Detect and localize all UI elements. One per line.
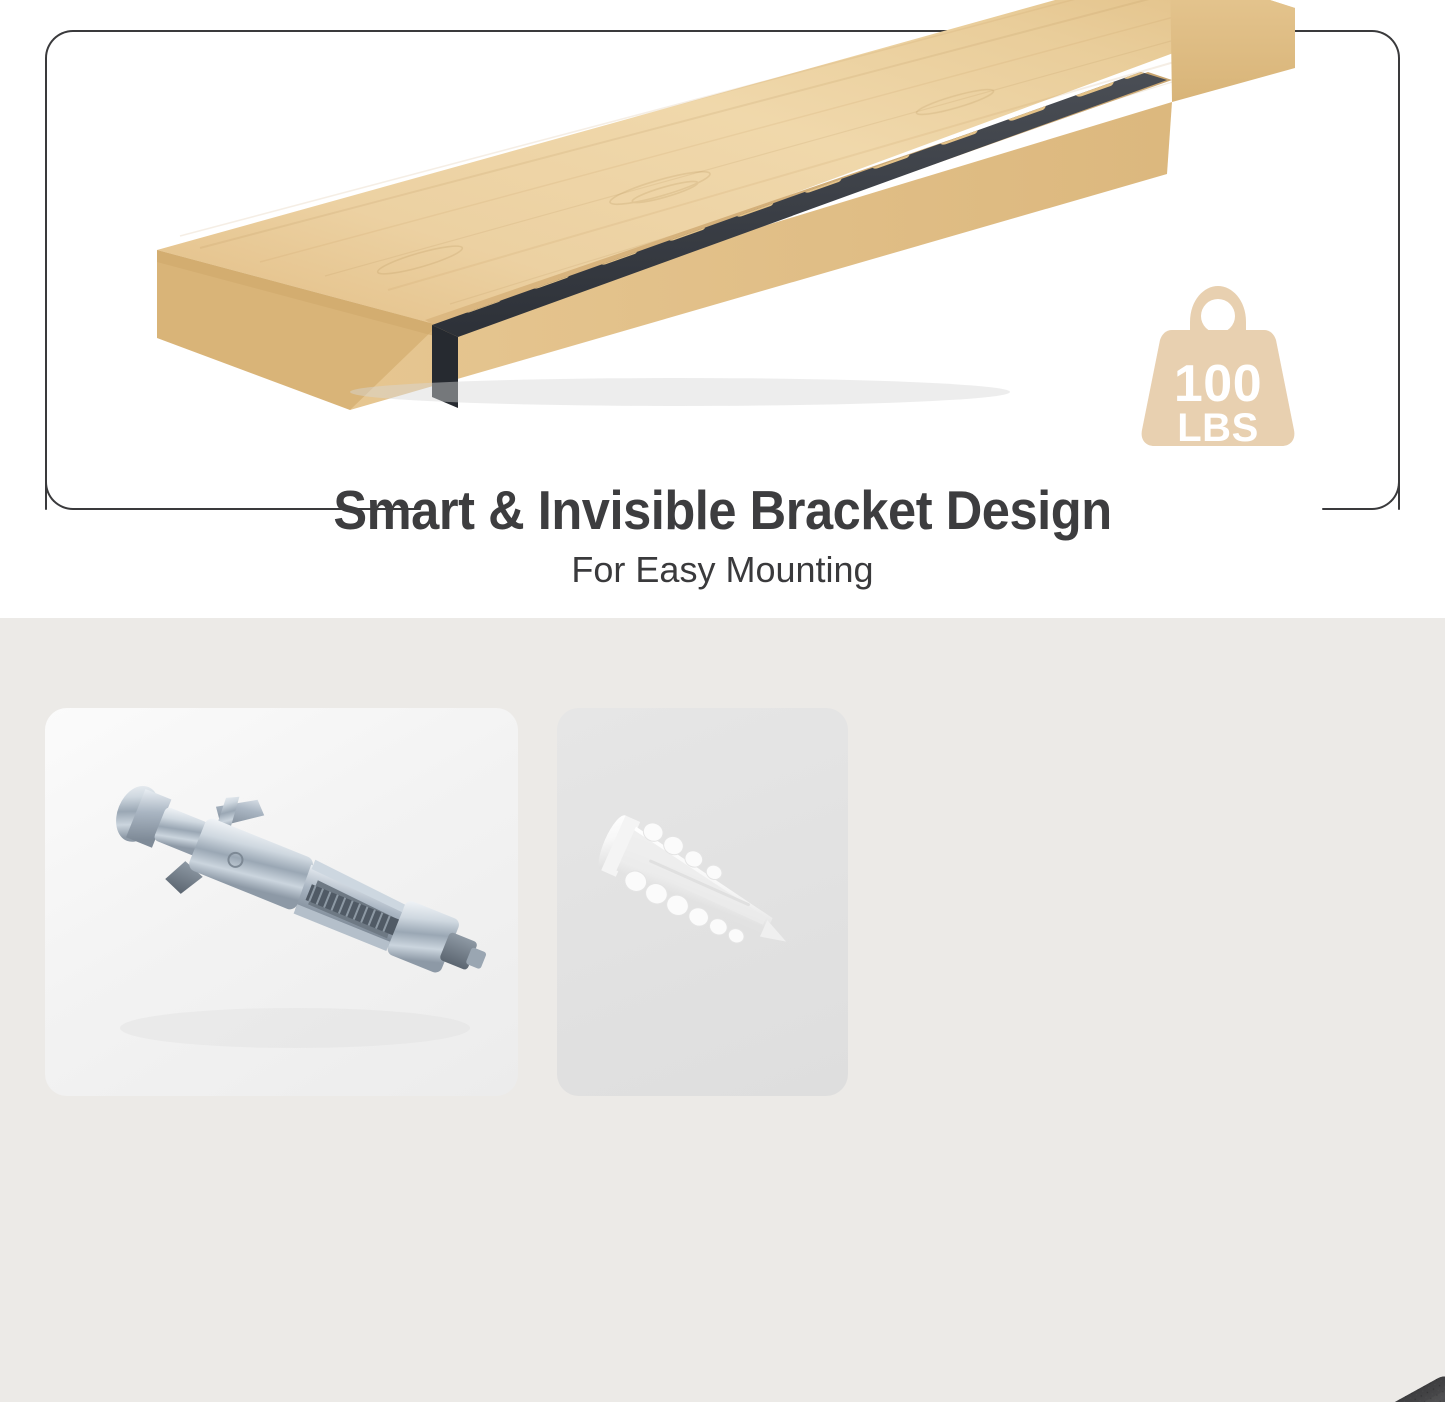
iron-pipe-photo (820, 1318, 1445, 1402)
page-subtitle: For Easy Mounting (0, 549, 1445, 591)
weight-value: 100 (1128, 358, 1308, 410)
frame-corner-top-right (1344, 30, 1400, 86)
anchor-shadow (120, 1008, 470, 1048)
pipe-shaft (820, 1371, 1445, 1402)
metal-anchor-panel (45, 708, 518, 1096)
metal-anchor-photo (45, 708, 518, 1096)
plastic-anchor-panel (557, 708, 848, 1096)
page-title: Smart & Invisible Bracket Design (58, 478, 1387, 542)
plastic-wall-plug (588, 807, 808, 962)
weight-capacity-badge: 100 LBS (1128, 278, 1308, 453)
hollow-wall-anchor (97, 753, 508, 1009)
bracket-design-section: 100 LBS Smart & Invisible Bracket Design… (0, 0, 1445, 618)
iron-pipe-illustration (820, 1318, 1445, 1402)
shelf-shadow (350, 378, 1010, 406)
frame-edge-left (45, 58, 47, 510)
frame-edge-right (1398, 58, 1400, 510)
frame-corner-top-left (45, 30, 101, 86)
weight-unit: LBS (1128, 408, 1308, 448)
plastic-anchor-photo (557, 708, 848, 1096)
shelf-end-face (1170, 0, 1295, 102)
features-section: VS Upgrade Metal Anchors heavy-duty Made… (0, 618, 1445, 1402)
